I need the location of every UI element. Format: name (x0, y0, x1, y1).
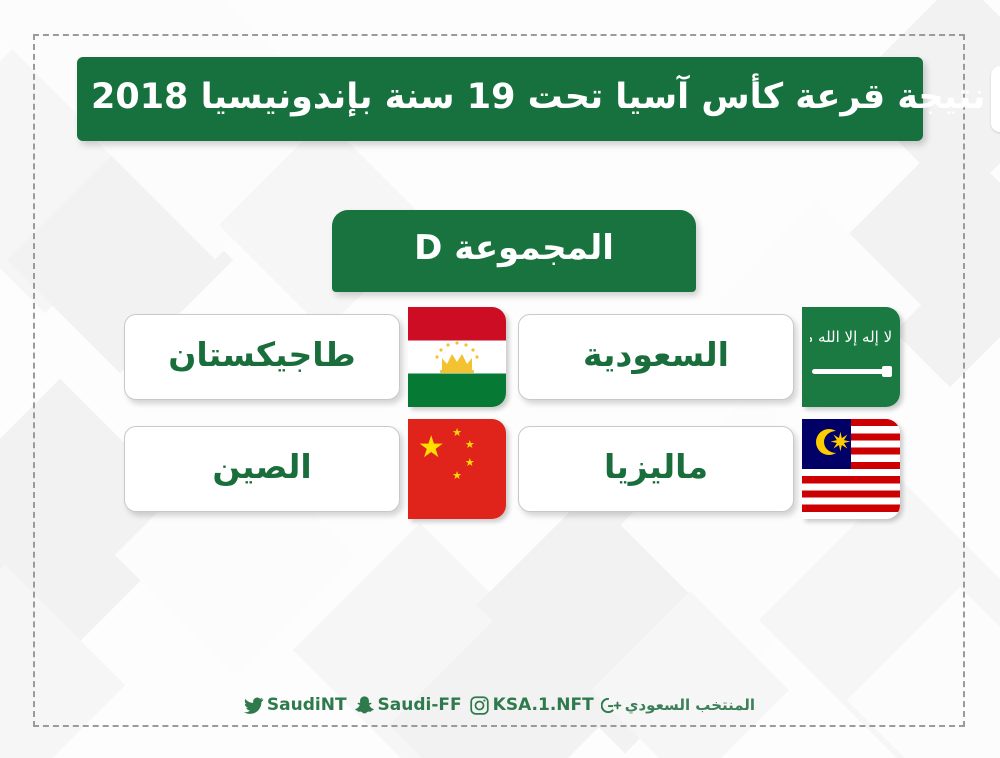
china-flag-small-star: ★ (452, 427, 462, 438)
snapchat-icon (354, 695, 375, 716)
team-name-label: ماليزيا (604, 450, 708, 488)
social-item-snapchat[interactable]: Saudi-FF (354, 695, 462, 716)
malaysia-flag-star: ✷ (829, 430, 851, 456)
team-row-malaysia: ✷ ماليزيا (518, 417, 900, 521)
group-label: المجموعة D (414, 231, 614, 271)
google-plus-icon (601, 695, 622, 716)
team-name-card-tajikistan: طاجيكستان (124, 314, 400, 400)
china-flag-icon: ★ ★ ★ ★ ★ (408, 419, 506, 519)
title-banner: نتيجة قرعة كأس آسيا تحت 19 سنة بإندونيسي… (77, 57, 923, 141)
team-name-label: الصين (212, 450, 311, 488)
twitter-handle: SaudiNT (267, 695, 347, 715)
snapchat-handle: Saudi-FF (378, 695, 462, 715)
team-name-card-malaysia: ماليزيا (518, 426, 794, 512)
twitter-icon (243, 695, 264, 716)
china-flag-small-star: ★ (465, 439, 475, 450)
team-name-label: طاجيكستان (168, 338, 356, 376)
team-name-card-china: الصين (124, 426, 400, 512)
group-teams-grid: لا إله إلا الله محمد رسول الله السعودية (124, 305, 900, 527)
instagram-icon (469, 695, 490, 716)
saudi-arabia-flag-icon: لا إله إلا الله محمد رسول الله (802, 307, 900, 407)
social-item-twitter[interactable]: SaudiNT (243, 695, 347, 716)
team-row-tajikistan: طاجيكستان (124, 305, 506, 409)
china-flag-small-star: ★ (452, 470, 462, 481)
team-row-china: ★ ★ ★ ★ ★ الصين (124, 417, 506, 521)
china-flag-small-star: ★ (465, 457, 475, 468)
instagram-handle: KSA.1.NFT (493, 695, 594, 715)
tajikistan-flag-icon (408, 307, 506, 407)
social-item-instagram[interactable]: KSA.1.NFT (469, 695, 594, 716)
team-row-saudi-arabia: لا إله إلا الله محمد رسول الله السعودية (518, 305, 900, 409)
team-name-card-saudi-arabia: السعودية (518, 314, 794, 400)
china-flag-big-star: ★ (418, 433, 445, 463)
poster-canvas: نتيجة قرعة كأس آسيا تحت 19 سنة بإندونيسي… (0, 0, 1000, 758)
saudi-flag-shahada: لا إله إلا الله محمد رسول الله (810, 330, 892, 352)
social-item-google-plus[interactable]: المنتخب السعودي (601, 695, 757, 716)
saudi-flag-sword (812, 369, 890, 374)
afc-u19-championship-logo: AFC U-19 CHAMPIONSHIP (991, 66, 1000, 132)
google-plus-handle: المنتخب السعودي (625, 696, 757, 714)
malaysia-flag-icon: ✷ (802, 419, 900, 519)
group-header-pill: المجموعة D (332, 210, 696, 292)
footer-social-bar: SaudiNT Saudi-FF KSA.1.NFT (0, 690, 1000, 720)
team-name-label: السعودية (583, 338, 729, 376)
page-title: نتيجة قرعة كأس آسيا تحت 19 سنة بإندونيسي… (91, 80, 985, 119)
